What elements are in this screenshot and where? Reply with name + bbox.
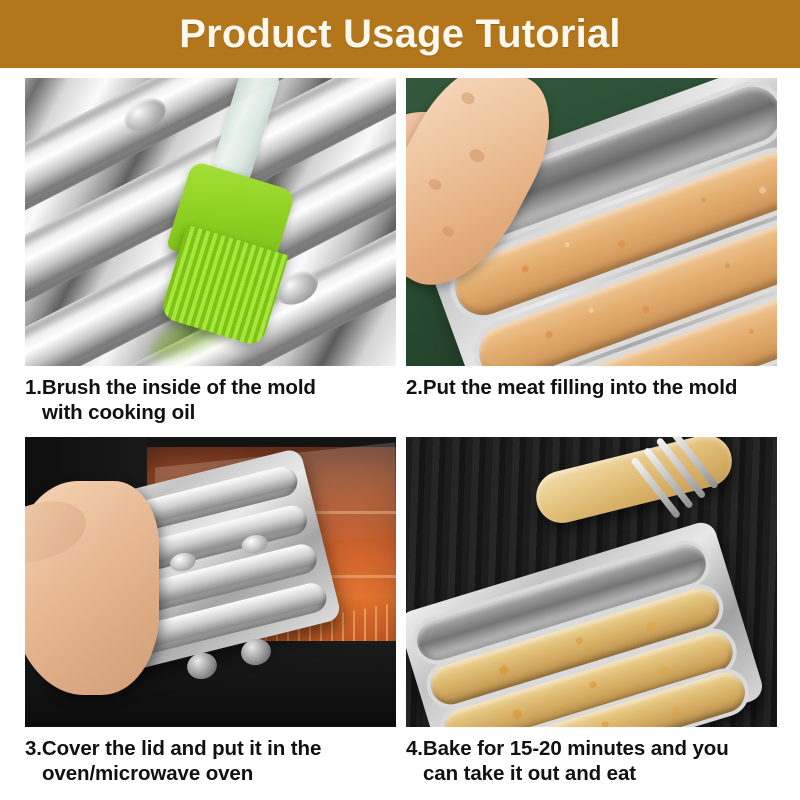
step-3-caption-line1: 3.Cover the lid and put it in the <box>25 737 321 760</box>
page-title: Product Usage Tutorial <box>179 14 621 54</box>
hand-holding-mold <box>25 481 159 695</box>
bag-texture-spot <box>467 147 487 165</box>
step-2-caption-line1: 2.Put the meat filling into the mold <box>406 376 737 399</box>
step-card-1: 1.Brush the inside of the mold with cook… <box>25 78 396 425</box>
step-card-2: 2.Put the meat filling into the mold <box>406 78 777 400</box>
step-1-caption-line1: 1.Brush the inside of the mold <box>25 376 316 399</box>
step-4-photo <box>406 437 777 727</box>
step-2-photo <box>406 78 777 366</box>
step-4-caption-line1: 4.Bake for 15-20 minutes and you <box>406 737 729 760</box>
bag-texture-spot <box>441 225 456 239</box>
step-4-caption-line2: can take it out and eat <box>406 761 777 786</box>
bag-texture-spot <box>427 177 443 192</box>
step-4-caption: 4.Bake for 15-20 minutes and you can tak… <box>406 736 777 786</box>
thumb <box>25 491 93 570</box>
step-3-caption: 3.Cover the lid and put it in the oven/m… <box>25 736 396 786</box>
step-3-caption-line2: oven/microwave oven <box>25 761 396 786</box>
step-card-3: 3.Cover the lid and put it in the oven/m… <box>25 437 396 786</box>
bag-texture-spot <box>459 90 477 106</box>
step-card-4: 4.Bake for 15-20 minutes and you can tak… <box>406 437 777 786</box>
header-banner: Product Usage Tutorial <box>0 0 800 68</box>
step-2-caption: 2.Put the meat filling into the mold <box>406 375 777 400</box>
step-1-caption-line2: with cooking oil <box>25 400 396 425</box>
step-1-caption: 1.Brush the inside of the mold with cook… <box>25 375 396 425</box>
tutorial-infographic: Product Usage Tutorial 1.Brush the insid… <box>0 0 800 800</box>
step-1-photo <box>25 78 396 366</box>
step-3-photo <box>25 437 396 727</box>
steps-grid: 1.Brush the inside of the mold with cook… <box>0 68 800 800</box>
